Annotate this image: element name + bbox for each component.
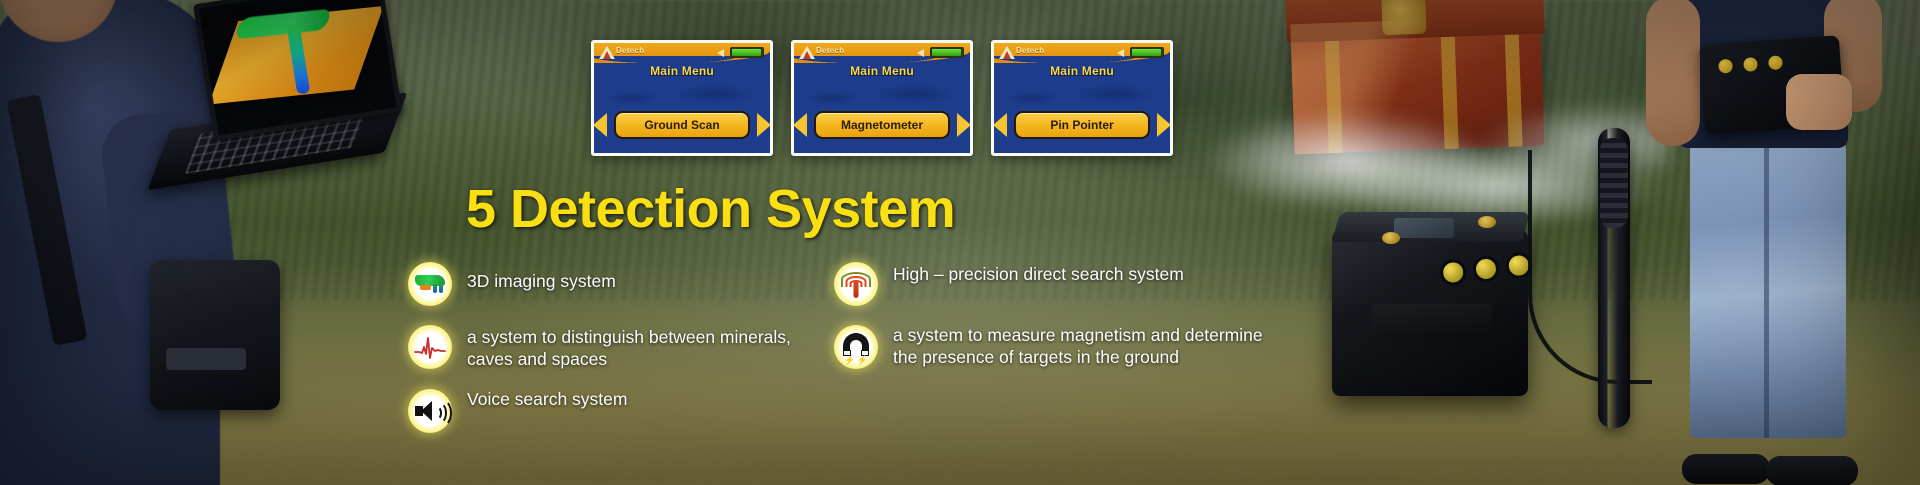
mode-screen-magnetometer[interactable]: Detech Main Menu Magnetometer [791, 40, 973, 156]
operator-right-shoe [1682, 454, 1770, 484]
screen-title: Main Menu [994, 64, 1170, 78]
brand-logo-icon [799, 45, 815, 61]
brand-label: Detech [816, 46, 844, 55]
feature-item-magnetism: ⚡⚡ a system to measure magnetism and det… [834, 325, 1264, 369]
chest-lock [1381, 0, 1426, 35]
prev-mode-arrow-icon[interactable] [793, 113, 807, 137]
operator-right-shoe [1766, 456, 1858, 485]
detector-branding [1372, 304, 1492, 340]
prev-mode-arrow-icon[interactable] [593, 113, 607, 137]
next-mode-arrow-icon[interactable] [957, 113, 971, 137]
search-rod-grip [1600, 138, 1628, 228]
detector-screen [1394, 218, 1454, 238]
operator-right-arm-left [1646, 0, 1700, 146]
feature-item-mineral-cave: a system to distinguish between minerals… [408, 325, 808, 370]
operator-left-head [0, 0, 118, 42]
promo-banner: Detech Main Menu Ground Scan Detech Main… [0, 0, 1920, 485]
mode-selector-row: Ground Scan [594, 111, 770, 139]
speaker-icon [1117, 48, 1126, 57]
detector-port-cap [1382, 232, 1400, 244]
control-unit-knobs [1718, 55, 1783, 73]
speaker-icon [717, 48, 726, 57]
feature-item-voice-search: Voice search system [408, 389, 808, 433]
feature-label: a system to distinguish between minerals… [467, 325, 808, 370]
brand-logo-icon [999, 45, 1015, 61]
detector-knob [1472, 255, 1501, 284]
magnet-icon: ⚡⚡ [834, 325, 878, 369]
feature-column-right: High – precision direct search system ⚡⚡… [834, 262, 1264, 452]
feature-column-left: 3D imaging system a system to distinguis… [408, 262, 808, 452]
treasure-chest [1289, 0, 1545, 166]
detector-cable [1528, 150, 1652, 384]
detector-device [1332, 208, 1532, 398]
feature-label: a system to measure magnetism and determ… [893, 325, 1264, 368]
feature-label: 3D imaging system [467, 262, 616, 293]
mode-screen-pin-pointer[interactable]: Detech Main Menu Pin Pointer [991, 40, 1173, 156]
operator-right-jeans [1690, 138, 1846, 438]
mode-button[interactable]: Pin Pointer [1014, 111, 1150, 139]
detector-knob [1439, 258, 1468, 287]
battery-icon [1130, 47, 1164, 58]
signal-target-icon [834, 262, 878, 306]
brand-label: Detech [1016, 46, 1044, 55]
speaker-icon [408, 389, 452, 433]
mode-selector-row: Magnetometer [794, 111, 970, 139]
speaker-icon [917, 48, 926, 57]
equipment-bag [150, 260, 280, 410]
operator-right-hand [1786, 74, 1852, 130]
feature-label: High – precision direct search system [893, 262, 1184, 286]
detector-port-cap [1478, 216, 1496, 228]
battery-icon [730, 47, 764, 58]
feature-list: 3D imaging system a system to distinguis… [408, 262, 1268, 452]
control-unit-knob [1768, 55, 1783, 70]
brand-logo-icon [599, 45, 615, 61]
next-mode-arrow-icon[interactable] [1157, 113, 1171, 137]
mode-button[interactable]: Ground Scan [614, 111, 750, 139]
battery-icon [930, 47, 964, 58]
prev-mode-arrow-icon[interactable] [993, 113, 1007, 137]
page-title: 5 Detection System [466, 178, 955, 240]
next-mode-arrow-icon[interactable] [757, 113, 771, 137]
mode-button[interactable]: Magnetometer [814, 111, 950, 139]
feature-item-3d-imaging: 3D imaging system [408, 262, 808, 306]
mode-screen-ground-scan[interactable]: Detech Main Menu Ground Scan [591, 40, 773, 156]
mode-selector-row: Pin Pointer [994, 111, 1170, 139]
feature-label: Voice search system [467, 389, 627, 411]
brand-label: Detech [616, 46, 644, 55]
control-unit-knob [1743, 57, 1758, 72]
operator-right-figure [1638, 0, 1888, 485]
3d-terrain-icon [408, 262, 452, 306]
control-unit-knob [1718, 59, 1733, 74]
feature-item-high-precision: High – precision direct search system [834, 262, 1264, 306]
screen-title: Main Menu [794, 64, 970, 78]
mode-screens-group: Detech Main Menu Ground Scan Detech Main… [591, 40, 1173, 156]
screen-title: Main Menu [594, 64, 770, 78]
waveform-icon [408, 325, 452, 369]
